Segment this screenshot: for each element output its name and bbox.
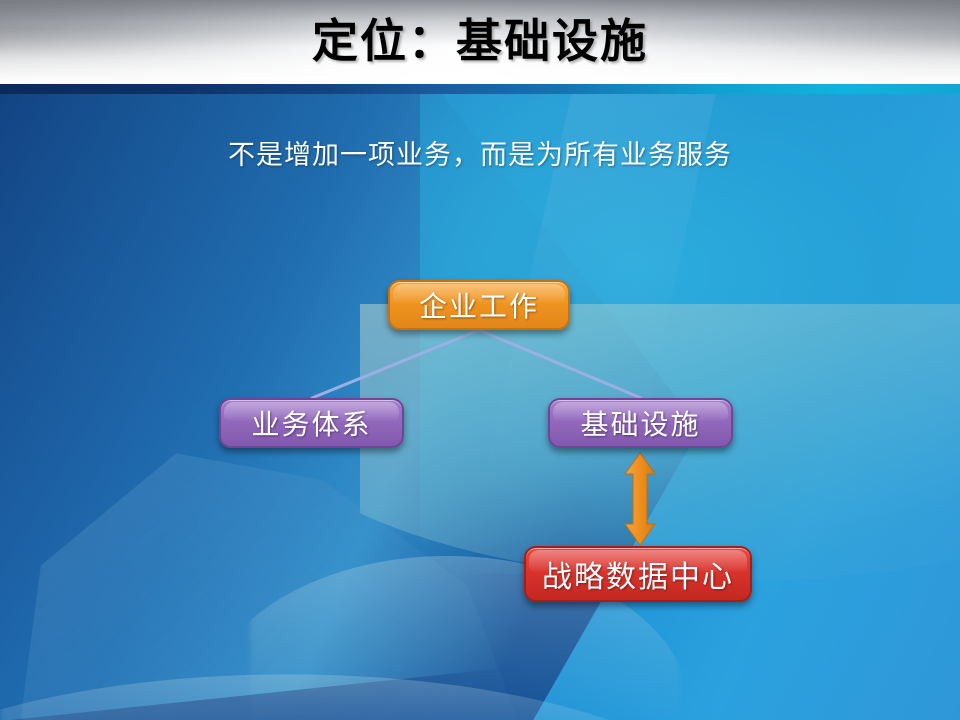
connector-enterprise-to-infrastructure bbox=[479, 330, 641, 398]
diagram-node-enterprise[interactable]: 企业工作 bbox=[388, 280, 570, 330]
diagram-node-infrastructure-label: 基础设施 bbox=[580, 403, 700, 443]
diagram-node-infrastructure[interactable]: 基础设施 bbox=[548, 398, 733, 448]
title-bar: 定位：基础设施 bbox=[0, 0, 960, 84]
connector-enterprise-to-business bbox=[312, 330, 479, 398]
diagram-node-enterprise-label: 企业工作 bbox=[419, 285, 539, 325]
diagram-connectors bbox=[0, 94, 960, 720]
slide: 定位：基础设施 不是增加一项业务，而是为所有业务服务 bbox=[0, 0, 960, 720]
double-arrow-icon bbox=[620, 452, 660, 546]
title-underline-bar bbox=[0, 84, 960, 94]
diagram-node-business-system-label: 业务体系 bbox=[251, 403, 371, 443]
diagram-node-data-center[interactable]: 战略数据中心 bbox=[524, 546, 752, 602]
diagram-node-business-system[interactable]: 业务体系 bbox=[219, 398, 404, 448]
diagram-node-data-center-label: 战略数据中心 bbox=[542, 552, 734, 596]
org-diagram: 企业工作 业务体系 基础设施 战略数据中心 bbox=[0, 94, 960, 720]
page-title: 定位：基础设施 bbox=[0, 0, 960, 84]
